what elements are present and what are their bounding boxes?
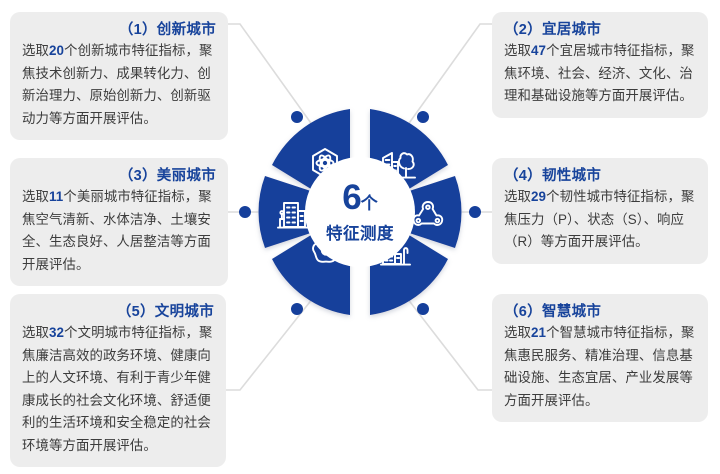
card-civilized-city[interactable]: （5）文明城市 选取32个文明城市特征指标，聚焦廉洁高效的政务环境、健康向上的人…: [10, 294, 226, 467]
infographic-canvas: 6个 特征测度 （1）创新城市 选取20个创新城市特征指标，聚焦技术创新力、成果…: [0, 0, 720, 474]
card-indicator-count: 21: [531, 325, 546, 340]
center-number: 6: [342, 178, 360, 217]
card-innovation-city[interactable]: （1）创新城市 选取20个创新城市特征指标，聚焦技术创新力、成果转化力、创新治理…: [10, 12, 228, 140]
card-body: 选取32个文明城市特征指标，聚焦廉洁高效的政务环境、健康向上的人文环境、有利于青…: [22, 322, 214, 457]
center-hub: 6个 特征测度: [305, 157, 415, 267]
card-indicator-count: 47: [531, 43, 546, 58]
card-indicator-count: 29: [531, 189, 546, 204]
card-body: 选取20个创新城市特征指标，聚焦技术创新力、成果转化力、创新治理力、原始创新力、…: [22, 40, 216, 130]
card-resilient-city[interactable]: （4）韧性城市 选取29个韧性城市特征指标，聚焦压力（P）、状态（S）、响应（R…: [492, 158, 708, 264]
card-title: （4）韧性城市: [504, 167, 696, 186]
card-indicator-count: 20: [49, 43, 64, 58]
card-title: （5）文明城市: [22, 303, 214, 322]
center-unit: 个: [361, 194, 378, 213]
card-body: 选取21个智慧城市特征指标，聚焦惠民服务、精准治理、信息基础设施、生态宜居、产业…: [504, 322, 696, 412]
card-body: 选取29个韧性城市特征指标，聚焦压力（P）、状态（S）、响应（R）等方面开展评估…: [504, 186, 696, 254]
card-body: 选取11个美丽城市特征指标，聚焦空气清新、水体洁净、土壤安全、生态良好、人居整洁…: [22, 186, 216, 276]
card-title: （6）智慧城市: [504, 303, 696, 322]
card-title: （1）创新城市: [22, 21, 216, 40]
center-subtitle: 特征测度: [326, 220, 394, 244]
card-indicator-count: 32: [49, 325, 64, 340]
card-body: 选取47个宜居城市特征指标，聚焦环境、社会、经济、文化、治理和基础设施等方面开展…: [504, 40, 696, 108]
connector-dot-4: [469, 206, 481, 218]
card-beautiful-city[interactable]: （3）美丽城市 选取11个美丽城市特征指标，聚焦空气清新、水体洁净、土壤安全、生…: [10, 158, 228, 286]
card-smart-city[interactable]: （6）智慧城市 选取21个智慧城市特征指标，聚焦惠民服务、精准治理、信息基础设施…: [492, 294, 708, 422]
card-title: （3）美丽城市: [22, 167, 216, 186]
card-title: （2）宜居城市: [504, 21, 696, 40]
center-count: 6个: [342, 180, 377, 215]
card-livable-city[interactable]: （2）宜居城市 选取47个宜居城市特征指标，聚焦环境、社会、经济、文化、治理和基…: [492, 12, 708, 118]
card-indicator-count: 11: [49, 189, 63, 204]
